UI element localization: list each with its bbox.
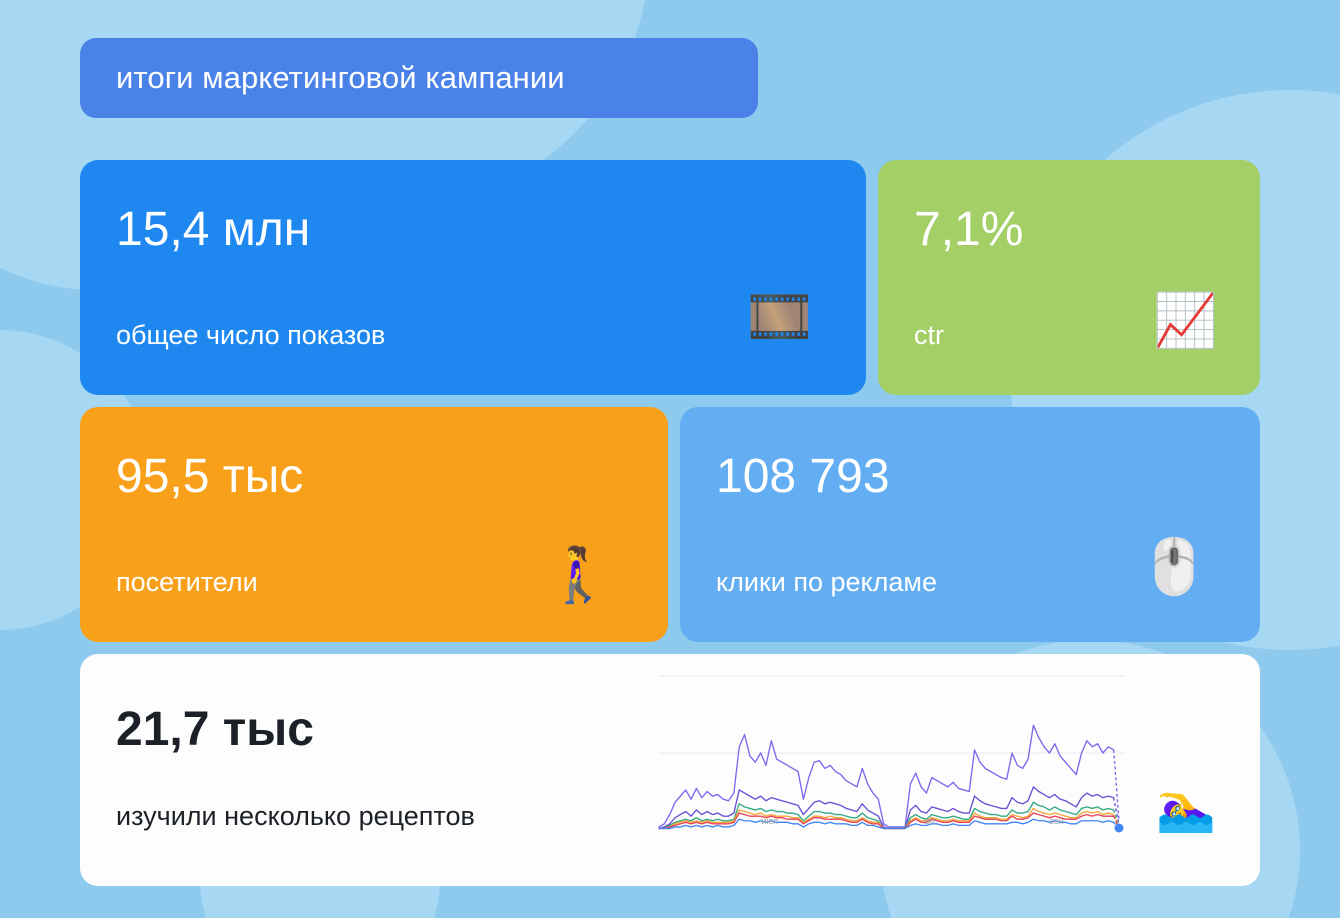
- metric-value: 21,7 тыс: [116, 706, 314, 754]
- computer-mouse-icon: 🖱️: [1141, 540, 1208, 594]
- metric-label: клики по рекламе: [716, 569, 937, 596]
- metric-label: общее число показов: [116, 322, 385, 349]
- chart-x-axis-labels: июлавгсен: [657, 816, 1127, 836]
- chart-x-tick: июл: [761, 816, 778, 826]
- metric-value: 7,1%: [914, 206, 1023, 254]
- metric-value: 108 793: [716, 453, 890, 501]
- woman-swimming-icon: 🏊‍♀️: [1156, 784, 1216, 832]
- metric-card-visitors[interactable]: 95,5 тыс посетители 🚶‍♀️: [80, 407, 668, 642]
- film-frames-icon: 🎞️: [747, 291, 812, 343]
- dashboard-canvas: итоги маркетинговой кампании 15,4 млн об…: [0, 0, 1340, 918]
- chart-x-tick: авг: [923, 816, 936, 826]
- metrics-row-1: 15,4 млн общее число показов 🎞️ 7,1% ctr…: [80, 160, 1260, 395]
- chart-line-series-1: [659, 725, 1114, 827]
- page-title: итоги маркетинговой кампании: [116, 60, 565, 96]
- metric-card-clicks[interactable]: 108 793 клики по рекламе 🖱️: [680, 407, 1260, 642]
- metric-card-ctr[interactable]: 7,1% ctr 📈: [878, 160, 1260, 395]
- metric-value: 95,5 тыс: [116, 453, 303, 501]
- metric-card-recipes[interactable]: 21,7 тыс изучили несколько рецептов июла…: [80, 654, 1260, 886]
- chart-increasing-icon: 📈: [1153, 295, 1218, 347]
- metric-card-impressions[interactable]: 15,4 млн общее число показов 🎞️: [80, 160, 866, 395]
- metric-value: 15,4 млн: [116, 206, 310, 254]
- metric-label: ctr: [914, 322, 944, 349]
- page-title-pill: итоги маркетинговой кампании: [80, 38, 758, 118]
- metric-label: посетители: [116, 569, 258, 596]
- chart-x-tick: сен: [1049, 816, 1063, 826]
- metrics-row-3: 21,7 тыс изучили несколько рецептов июла…: [80, 654, 1260, 886]
- walking-woman-icon: 🚶‍♀️: [545, 548, 612, 602]
- cards-grid: итоги маркетинговой кампании 15,4 млн об…: [80, 38, 1260, 898]
- metrics-row-2: 95,5 тыс посетители 🚶‍♀️ 108 793 клики п…: [80, 407, 1260, 642]
- metric-label: изучили несколько рецептов: [116, 803, 475, 830]
